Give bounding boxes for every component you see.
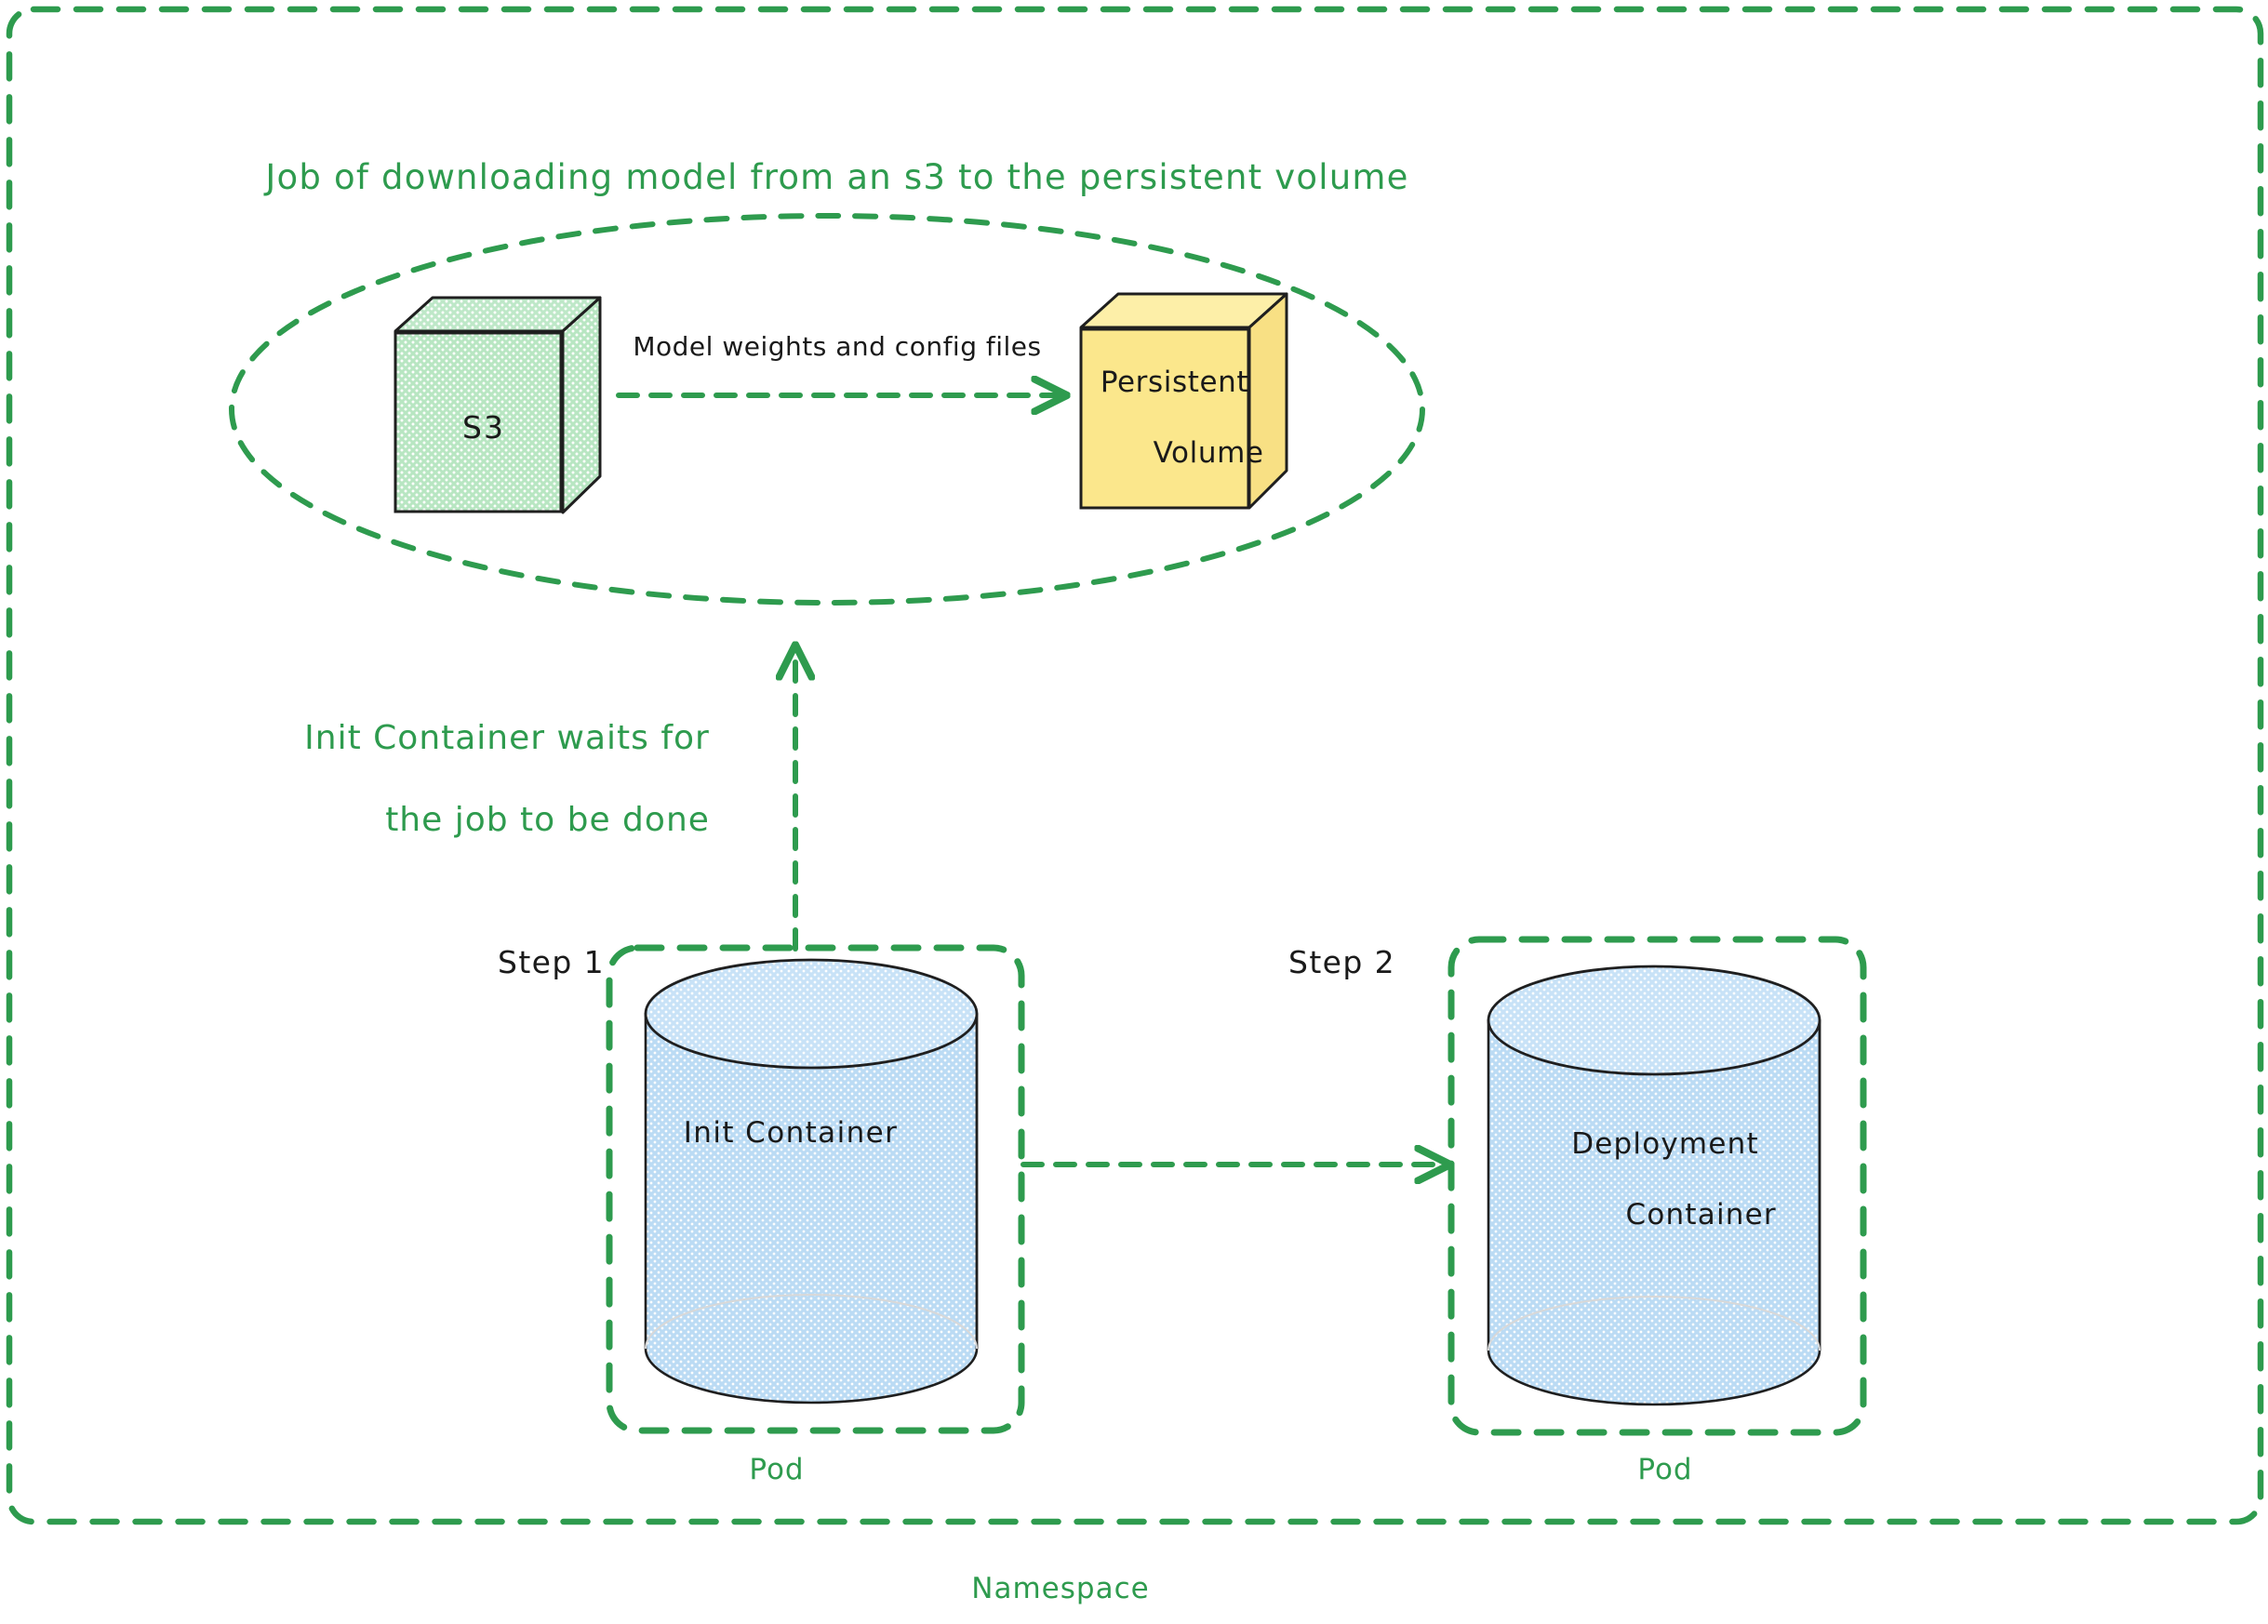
deployment-label-line-2: Container bbox=[1626, 1198, 1777, 1231]
model-transfer-arrow-label: Model weights and config files bbox=[614, 331, 1061, 363]
init-container-wait-label: Init Container waits for the job to be d… bbox=[233, 718, 781, 841]
diagram-canvas: Job of downloading model from an s3 to t… bbox=[0, 0, 2268, 1624]
pod-2-label: Pod bbox=[1563, 1453, 1768, 1488]
persistent-volume-cube-label: Persistent Volume bbox=[1065, 366, 1284, 471]
s3-cube-label: S3 bbox=[391, 409, 577, 446]
deployment-label-line-1: Deployment bbox=[1571, 1127, 1759, 1161]
step-2-label: Step 2 bbox=[1209, 944, 1395, 981]
namespace-label: Namespace bbox=[0, 1572, 2121, 1607]
init-container-label: Init Container bbox=[605, 1116, 977, 1151]
persistent-volume-label-line-1: Persistent bbox=[1101, 366, 1248, 399]
pod-1-label: Pod bbox=[674, 1453, 879, 1488]
step-1-label: Step 1 bbox=[437, 944, 605, 981]
s3-cube bbox=[395, 298, 600, 512]
persistent-volume-label-line-2: Volume bbox=[1154, 436, 1264, 470]
wait-label-line-2: the job to be done bbox=[385, 801, 710, 839]
diagram-title: Job of downloading model from an s3 to t… bbox=[0, 156, 1674, 198]
deployment-container-label: Deployment Container bbox=[1479, 1127, 1851, 1232]
wait-label-line-1: Init Container waits for bbox=[304, 719, 710, 757]
init-container-cylinder bbox=[646, 960, 977, 1403]
